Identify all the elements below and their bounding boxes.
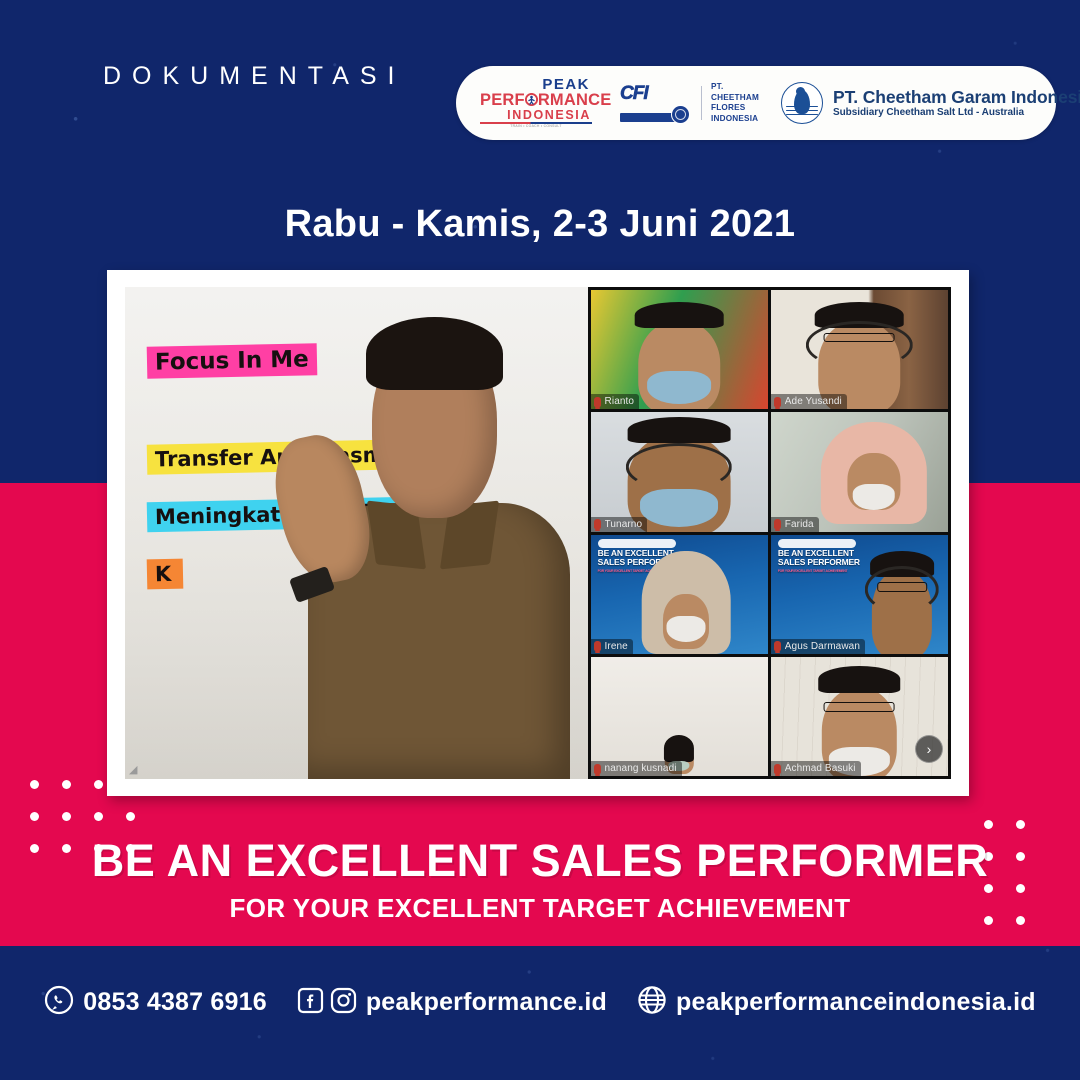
whatsapp-icon [44,985,74,1020]
logo-peak-performance: PEAK PERF RMANCE INDONESIA TRAIN • COACH… [480,77,592,128]
participant-name-badge: Ade Yusandi [771,394,847,409]
logo-cfi: CFI PT. CHEETHAM FLORES INDONESIA [618,82,759,124]
participant-grid: Rianto Ade Yusandi [588,287,951,779]
participant-name: Tunarno [605,519,643,530]
participant-name-badge: nanang kusnadi [591,761,682,776]
flipchart-note-4: K [147,559,184,590]
participant-name-badge: Rianto [591,394,640,409]
logo-tagline: TRAIN • COACH • CONSULT [480,125,592,128]
participant-tile[interactable]: nanang kusnadi [591,657,768,776]
cheetham-text: PT. Cheetham Garam Indonesia Subsidiary … [833,88,1080,118]
next-page-button[interactable]: › [915,735,943,763]
event-date: Rabu - Kamis, 2-3 Juni 2021 [0,203,1080,246]
whatsapp-number: 0853 4387 6916 [83,988,267,1017]
virtual-background-text: BE AN EXCELLENT SALES PERFORMER FOR YOUR… [778,549,860,574]
indonesia-word: INDONESIA [480,109,592,122]
participant-name: nanang kusnadi [605,763,677,774]
participant-name: Irene [605,641,628,652]
cfi-sub-line-2: CHEETHAM [711,93,759,104]
mic-icon [594,519,601,529]
participant-name: Ade Yusandi [785,396,842,407]
vbg-line-1: BE AN EXCELLENT [778,548,854,558]
participant-name-badge: Farida [771,517,819,532]
participant-tile[interactable]: Farida [771,412,948,531]
mic-icon [594,764,601,774]
facebook-icon[interactable] [297,987,324,1019]
mic-icon [774,764,781,774]
headline-sub: FOR YOUR EXCELLENT TARGET ACHIEVEMENT [0,893,1080,924]
logo-bar: PEAK PERF RMANCE INDONESIA TRAIN • COACH… [456,66,1056,140]
performance-prefix: PERF [480,91,525,109]
cfi-subtext: PT. CHEETHAM FLORES INDONESIA [711,82,759,124]
person-in-o-icon [525,93,538,106]
mic-icon [774,519,781,529]
social-handle: peakperformance.id [366,988,607,1017]
vbg-line-3: FOR YOUR EXCELLENT TARGET ACHIEVEMENT [778,570,860,574]
contact-website[interactable]: peakperformanceindonesia.id [637,985,1036,1020]
performance-suffix: RMANCE [538,91,612,109]
participant-tile[interactable]: BE AN EXCELLENT SALES PERFORMER FOR YOUR… [771,535,948,654]
meeting-screenshot: Focus In Me Transfer Antusiasme Meningka… [125,287,951,779]
mic-icon [774,397,781,407]
instagram-icon[interactable] [330,987,357,1019]
contact-social[interactable]: peakperformance.id [297,987,607,1019]
globe-icon [637,985,667,1020]
peak-word: PEAK [480,77,592,92]
participant-tile[interactable]: Rianto [591,290,768,409]
mic-icon [774,641,781,651]
speaker-video-pane: Focus In Me Transfer Antusiasme Meningka… [125,287,588,779]
cheetham-title: PT. Cheetham Garam Indonesia [833,88,1080,106]
participant-name-badge: Agus Darmawan [771,639,865,654]
website-url: peakperformanceindonesia.id [676,988,1036,1017]
contact-whatsapp[interactable]: 0853 4387 6916 [44,985,267,1020]
cfi-mark-icon: CFI [618,82,692,124]
eyebrow-dokumentasi: DOKUMENTASI [103,62,406,91]
performance-word: PERF RMANCE [480,92,592,109]
cfi-sub-line-1: PT. [711,82,759,93]
cheetham-subtitle: Subsidiary Cheetham Salt Ltd - Australia [833,107,1080,118]
vbg-line-1: BE AN EXCELLENT [598,548,674,558]
participant-name-badge: Tunarno [591,517,648,532]
footer-contact-bar: 0853 4387 6916 peakperformance.id [0,985,1080,1020]
cfi-sub-line-4: INDONESIA [711,114,759,125]
participant-name: Agus Darmawan [785,641,860,652]
cfi-globe-icon [671,105,690,124]
participant-tile[interactable]: Ade Yusandi [771,290,948,409]
mic-icon [594,397,601,407]
logo-cheetham: PT. Cheetham Garam Indonesia Subsidiary … [781,82,1080,124]
cfi-sub-line-3: FLORES [711,103,759,114]
logo-divider [701,86,702,120]
participant-name-badge: Achmad Basuki [771,761,861,776]
participant-name: Achmad Basuki [785,763,856,774]
headline-block: BE AN EXCELLENT SALES PERFORMER FOR YOUR… [0,838,1080,924]
poster-canvas: DOKUMENTASI PEAK PERF RMANCE INDONESIA T… [0,0,1080,1080]
photo-frame: Focus In Me Transfer Antusiasme Meningka… [107,270,969,796]
mermaid-seal-icon [781,82,823,124]
cfi-letters: CFI [620,84,648,103]
headline-main: BE AN EXCELLENT SALES PERFORMER [0,838,1080,883]
participant-name: Farida [785,519,814,530]
vbg-line-2: SALES PERFORMER [778,557,860,567]
mic-icon [594,641,601,651]
participant-tile[interactable]: Tunarno [591,412,768,531]
participant-name: Rianto [605,396,635,407]
speaker-figure [286,287,587,779]
participant-name-badge: Irene [591,639,633,654]
resize-handle-icon[interactable]: ◢ [129,763,137,776]
participant-tile[interactable]: BE AN EXCELLENT SALES PERFORMER FOR YOUR… [591,535,768,654]
